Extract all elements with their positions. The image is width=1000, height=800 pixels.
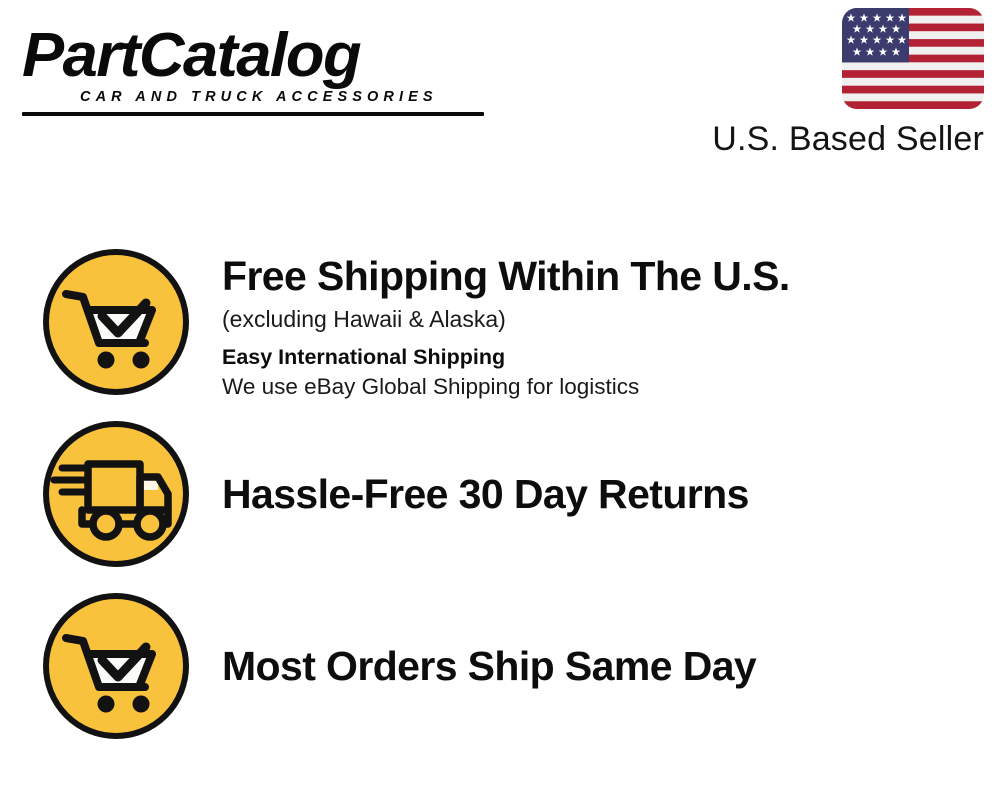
feature-title: Free Shipping Within The U.S.: [222, 252, 980, 300]
us-based-seller-badge: U.S. Based Seller: [694, 8, 984, 158]
feature-text-same-day: Most Orders Ship Same Day: [192, 590, 980, 742]
shopping-cart-check-icon: [40, 246, 192, 398]
partcatalog-logo: PartCatalog CAR AND TRUCK ACCESSORIES: [22, 24, 492, 116]
feature-note: (excluding Hawaii & Alaska): [222, 304, 980, 334]
logo-underline-rule: [22, 112, 484, 116]
feature-row-same-day-shipping: Most Orders Ship Same Day: [40, 590, 980, 760]
logo-tagline: CAR AND TRUCK ACCESSORIES: [80, 89, 492, 105]
feature-text-returns: Hassle-Free 30 Day Returns: [192, 418, 980, 570]
feature-list: Free Shipping Within The U.S. (excluding…: [0, 228, 1000, 788]
shopping-cart-check-icon: [40, 590, 192, 742]
banner-header: PartCatalog CAR AND TRUCK ACCESSORIES: [0, 0, 1000, 170]
feature-text-free-shipping: Free Shipping Within The U.S. (excluding…: [192, 246, 980, 402]
logo-wordmark: PartCatalog: [22, 24, 501, 88]
feature-title: Most Orders Ship Same Day: [222, 642, 756, 690]
us-based-seller-label: U.S. Based Seller: [694, 120, 984, 158]
us-flag-icon: [842, 8, 984, 109]
feature-title: Hassle-Free 30 Day Returns: [222, 470, 749, 518]
feature-row-free-shipping: Free Shipping Within The U.S. (excluding…: [40, 246, 980, 416]
feature-row-returns: Hassle-Free 30 Day Returns: [40, 418, 980, 588]
feature-subtitle: Easy International Shipping: [222, 343, 980, 371]
delivery-truck-icon: [40, 418, 192, 570]
promo-banner: PartCatalog CAR AND TRUCK ACCESSORIES: [0, 0, 1000, 800]
feature-subnote: We use eBay Global Shipping for logistic…: [222, 372, 980, 402]
